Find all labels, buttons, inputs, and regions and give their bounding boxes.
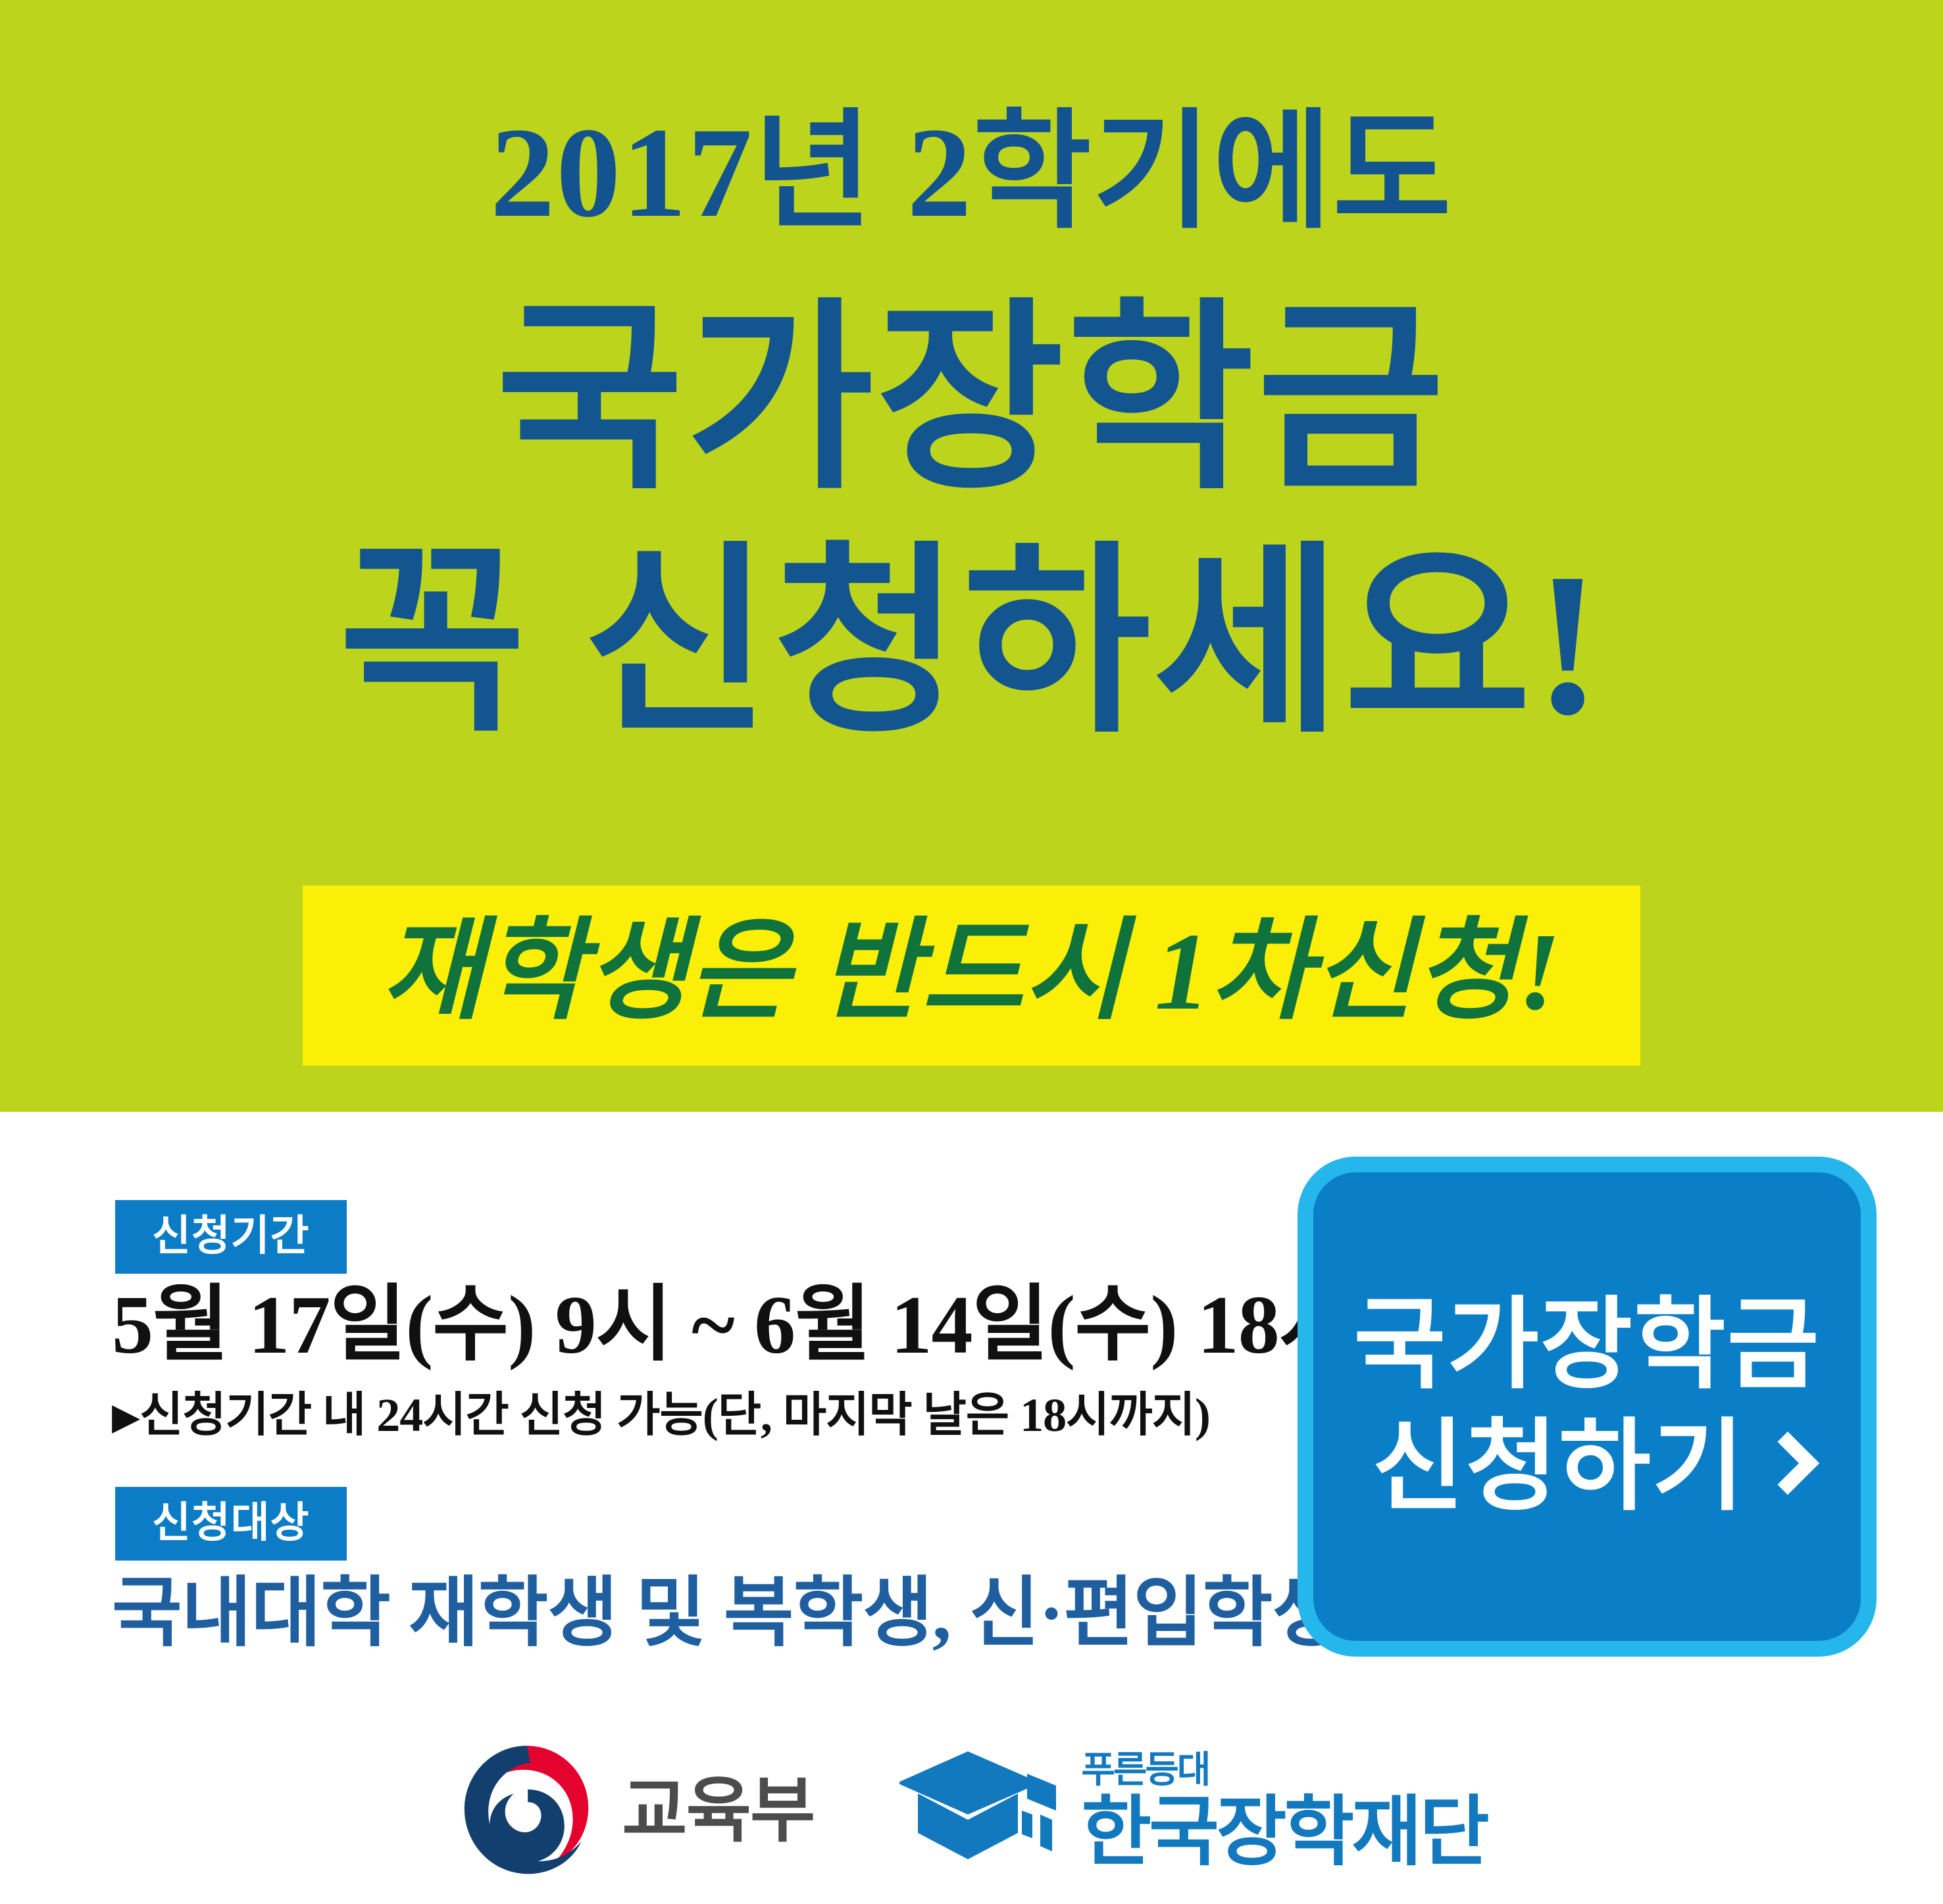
note-marker-icon: ▶ bbox=[112, 1397, 139, 1438]
hero-kicker: 2017년 2학기에도 bbox=[0, 109, 1943, 238]
application-period-note: ▶신청기간 내 24시간 신청 가능(단, 마지막 날은 18시까지) bbox=[112, 1391, 1210, 1439]
kosaf-sub-label: 푸른등대 bbox=[1081, 1751, 1486, 1788]
graduation-cap-icon bbox=[899, 1738, 1064, 1883]
hero-section: 2017년 2학기에도 국가장학금 꼭 신청하세요! 재학생은 반드시 1차신청… bbox=[0, 0, 1943, 1112]
cta-line-2: 신청하기 bbox=[1372, 1407, 1745, 1528]
ministry-of-education-label: 교육부 bbox=[622, 1775, 814, 1846]
kosaf-logo: 푸른등대 한국장학재단 bbox=[899, 1738, 1486, 1883]
application-period-note-text: 신청기간 내 24시간 신청 가능(단, 마지막 날은 18시까지) bbox=[139, 1389, 1210, 1441]
ministry-of-education-logo: 교육부 bbox=[456, 1740, 814, 1881]
hero-title-line-1: 국가장학금 bbox=[0, 299, 1943, 503]
chevron-right-icon bbox=[1763, 1432, 1802, 1504]
scholarship-announcement-banner: 2017년 2학기에도 국가장학금 꼭 신청하세요! 재학생은 반드시 1차신청… bbox=[0, 0, 1943, 1904]
kosaf-main-label: 한국장학재단 bbox=[1081, 1793, 1486, 1870]
hero-title-line-2: 꼭 신청하세요! bbox=[0, 543, 1943, 747]
hero-highlight-text: 재학생은 반드시 1차신청! bbox=[382, 916, 1561, 1027]
application-target-value: 국내대학 재학생 및 복학생, 신·편입학생 bbox=[112, 1576, 1342, 1652]
footer-logos: 교육부 푸른등대 한국장학재단 bbox=[0, 1717, 1943, 1904]
hero-highlight-band: 재학생은 반드시 1차신청! bbox=[303, 886, 1640, 1066]
korea-government-taegeuk-emblem-icon bbox=[456, 1740, 597, 1881]
cta-line-2-row: 신청하기 bbox=[1372, 1407, 1802, 1528]
application-period-label-chip: 신청기간 bbox=[115, 1200, 347, 1274]
cta-line-1: 국가장학금 bbox=[1353, 1285, 1820, 1407]
application-target-label-chip: 신청대상 bbox=[115, 1487, 347, 1561]
kosaf-wordmark: 푸른등대 한국장학재단 bbox=[1081, 1751, 1486, 1870]
info-details: 신청기간 5월 17일(수) 9시 ~ 6월 14일(수) 18시 ▶신청기간 … bbox=[0, 1112, 1290, 1704]
apply-scholarship-button[interactable]: 국가장학금 신청하기 bbox=[1298, 1157, 1877, 1657]
application-period-value: 5월 17일(수) 9시 ~ 6월 14일(수) 18시 bbox=[112, 1284, 1355, 1367]
